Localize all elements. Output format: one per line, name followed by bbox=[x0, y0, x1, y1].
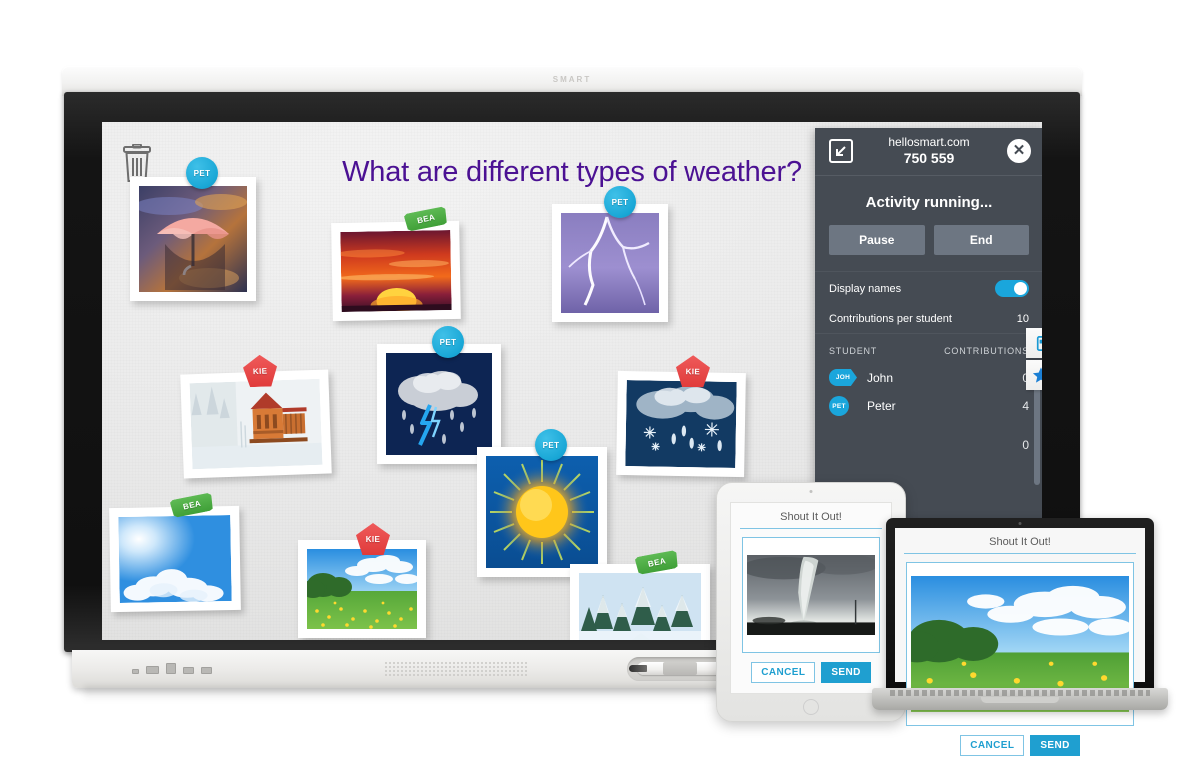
photo-card[interactable]: BEA bbox=[109, 506, 241, 612]
port bbox=[183, 667, 194, 674]
end-button[interactable]: End bbox=[934, 225, 1030, 255]
contributions-per-student-label: Contributions per student bbox=[829, 313, 952, 325]
send-button[interactable]: SEND bbox=[821, 662, 870, 683]
photo-image-umbrella-rain bbox=[139, 186, 247, 292]
photo-image-winter-pines bbox=[579, 573, 701, 640]
badge-initials: KIE bbox=[253, 366, 268, 376]
port bbox=[166, 663, 176, 674]
home-button[interactable] bbox=[803, 699, 819, 715]
column-student: STUDENT bbox=[829, 346, 877, 356]
avatar: JOH bbox=[829, 369, 857, 386]
laptop-screen[interactable]: Shout It Out! bbox=[895, 528, 1145, 682]
badge-initials: PET bbox=[194, 169, 211, 178]
avatar-initials: PET bbox=[829, 396, 849, 416]
badge-initials: BEA bbox=[182, 499, 202, 512]
badge-initials: BEA bbox=[647, 556, 667, 569]
laptop-base bbox=[872, 688, 1168, 710]
avatar-initials: JOH bbox=[829, 369, 857, 386]
photo-image-sun bbox=[486, 456, 598, 568]
photo-card[interactable]: PET bbox=[552, 204, 668, 322]
preview-image-tornado bbox=[747, 555, 875, 636]
mobile-device-icon[interactable] bbox=[1026, 328, 1042, 358]
toggle-knob bbox=[1014, 282, 1027, 295]
image-preview-frame[interactable] bbox=[742, 537, 880, 653]
display-names-toggle[interactable] bbox=[995, 280, 1029, 297]
table-row[interactable]: 0 bbox=[815, 421, 1042, 460]
send-button[interactable]: SEND bbox=[1030, 735, 1079, 756]
student-badge[interactable]: PET bbox=[432, 326, 464, 358]
table-row[interactable]: PET Peter 4 bbox=[815, 391, 1042, 421]
display-names-label: Display names bbox=[829, 283, 901, 295]
side-tab-strip bbox=[1026, 328, 1042, 392]
activity-status: Activity running... bbox=[815, 194, 1042, 211]
tablet-screen[interactable]: Shout It Out! bbox=[730, 502, 892, 694]
photo-card[interactable]: PET bbox=[477, 447, 607, 577]
activity-controls: Pause End bbox=[815, 225, 1042, 271]
photo-card[interactable]: PET bbox=[377, 344, 501, 464]
port bbox=[201, 667, 212, 674]
pause-button[interactable]: Pause bbox=[829, 225, 925, 255]
badge-initials: PET bbox=[612, 198, 629, 207]
photo-image-sunset bbox=[340, 230, 451, 312]
port bbox=[146, 666, 159, 674]
badge-initials: PET bbox=[440, 338, 457, 347]
front-camera bbox=[1019, 522, 1022, 525]
dialog-title: Shout It Out! bbox=[740, 511, 882, 529]
panel-header: hellosmart.com 750 559 ✕ bbox=[815, 128, 1042, 176]
laptop-lid: Shout It Out! bbox=[886, 518, 1154, 693]
session-url: hellosmart.com bbox=[888, 135, 969, 149]
laptop-device: Shout It Out! bbox=[872, 518, 1168, 723]
photo-image-lightning bbox=[561, 213, 659, 313]
student-contributions: 0 bbox=[999, 438, 1029, 452]
student-badge[interactable]: BEA bbox=[403, 205, 448, 233]
shout-it-out-dialog: Shout It Out! bbox=[731, 503, 891, 693]
contributions-per-student-row: Contributions per student 10 bbox=[815, 305, 1042, 333]
badge-initials: KIE bbox=[686, 367, 701, 376]
display-names-row: Display names bbox=[815, 271, 1042, 305]
student-name: John bbox=[867, 371, 999, 385]
photo-image-snowy-cabin bbox=[190, 379, 323, 469]
port bbox=[132, 669, 139, 674]
photo-card[interactable]: PET bbox=[130, 177, 256, 301]
student-badge[interactable]: PET bbox=[186, 157, 218, 189]
photo-image-thunderstorm bbox=[386, 353, 492, 455]
contributions-per-student-value: 10 bbox=[1017, 313, 1029, 325]
badge-initials: BEA bbox=[416, 213, 436, 226]
speaker-grille bbox=[384, 661, 529, 678]
photo-card[interactable]: KIE bbox=[616, 371, 746, 477]
photo-image-sleet bbox=[625, 380, 736, 468]
dialog-title: Shout It Out! bbox=[904, 536, 1136, 554]
front-camera bbox=[810, 490, 813, 493]
product-photo-scene: SMART What are different types of we bbox=[0, 0, 1189, 768]
photo-card[interactable]: KIE bbox=[298, 540, 426, 638]
student-name: Peter bbox=[867, 399, 999, 413]
photo-card[interactable]: BEA bbox=[570, 564, 710, 640]
brand-logo: SMART bbox=[553, 75, 591, 84]
badge-initials: PET bbox=[543, 441, 560, 450]
photo-image-sunny-sky bbox=[118, 515, 231, 603]
close-icon[interactable]: ✕ bbox=[1007, 139, 1031, 163]
photo-card[interactable]: BEA bbox=[331, 221, 461, 321]
favorite-star-icon[interactable] bbox=[1026, 360, 1042, 390]
keyboard[interactable] bbox=[890, 690, 1150, 696]
avatar: PET bbox=[829, 396, 849, 416]
table-row[interactable]: JOH John 0 bbox=[815, 364, 1042, 391]
student-table-header: STUDENT CONTRIBUTIONS bbox=[815, 333, 1042, 364]
port-panel bbox=[132, 663, 212, 674]
dialog-actions: CANCEL SEND bbox=[904, 735, 1136, 758]
dialog-actions: CANCEL SEND bbox=[740, 662, 882, 685]
cancel-button[interactable]: CANCEL bbox=[960, 735, 1024, 756]
student-badge[interactable]: PET bbox=[535, 429, 567, 461]
shout-it-out-dialog: Shout It Out! bbox=[895, 528, 1145, 682]
student-contributions: 4 bbox=[999, 399, 1029, 413]
student-contributions: 0 bbox=[999, 371, 1029, 385]
student-badge[interactable]: PET bbox=[604, 186, 636, 218]
badge-initials: KIE bbox=[366, 535, 381, 544]
photo-card[interactable]: KIE bbox=[180, 369, 332, 478]
student-badge[interactable]: KIE bbox=[356, 523, 390, 555]
photo-image-meadow bbox=[307, 549, 417, 629]
column-contributions: CONTRIBUTIONS bbox=[944, 346, 1029, 356]
cancel-button[interactable]: CANCEL bbox=[751, 662, 815, 683]
